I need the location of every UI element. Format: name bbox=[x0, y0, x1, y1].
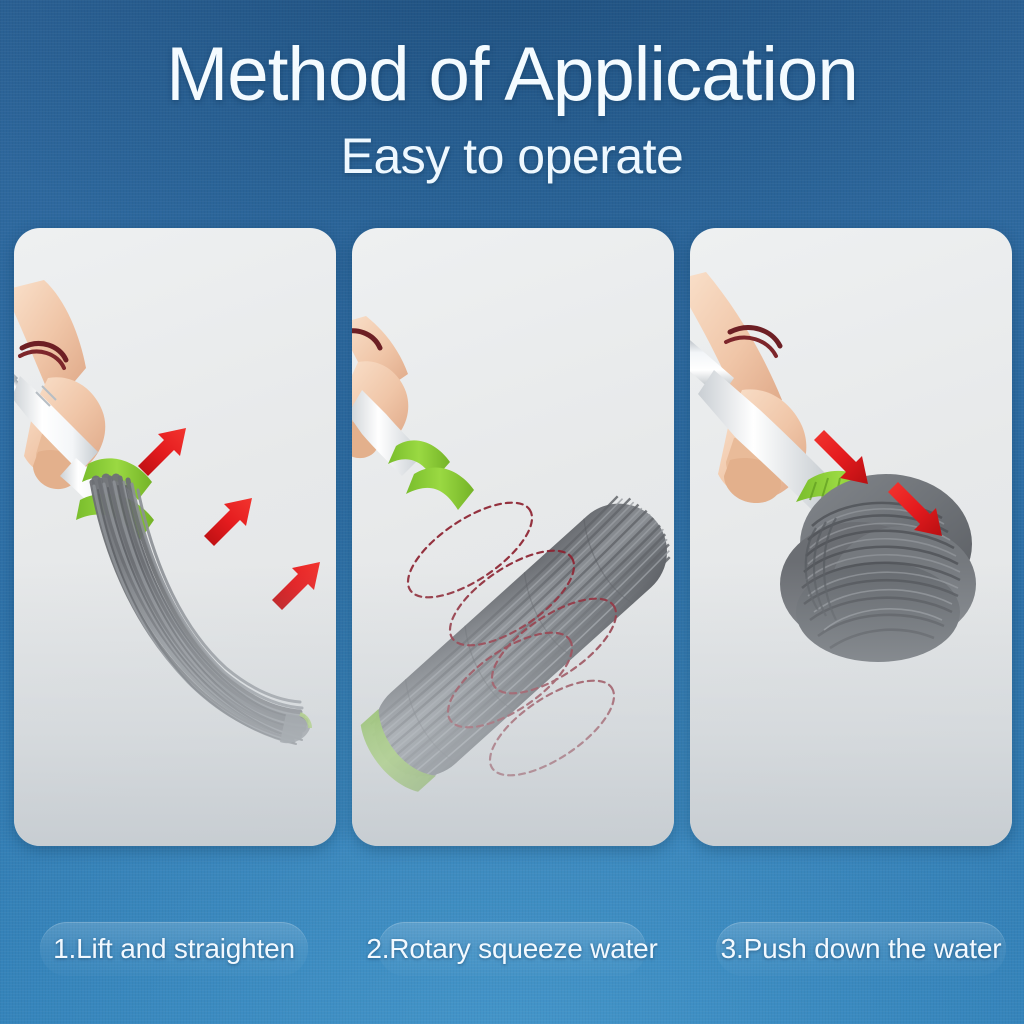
step-caption-2: 2.Rotary squeeze water bbox=[378, 922, 646, 976]
infographic-canvas: Method of Application Easy to operate bbox=[0, 0, 1024, 1024]
arrow-up-left-icon-2 bbox=[204, 498, 252, 546]
page-subtitle: Easy to operate bbox=[0, 128, 1024, 184]
floor-shadow bbox=[690, 562, 1012, 846]
step-caption-1: 1.Lift and straighten bbox=[40, 922, 308, 976]
step-2-photo bbox=[352, 228, 674, 846]
floor-shadow bbox=[14, 562, 336, 846]
step-panel-1 bbox=[14, 228, 336, 846]
step-panel-2 bbox=[352, 228, 674, 846]
arrow-up-left-icon-1 bbox=[138, 428, 186, 476]
step-1-photo bbox=[14, 228, 336, 846]
floor-shadow bbox=[352, 562, 674, 846]
step-3-photo bbox=[690, 228, 1012, 846]
step-caption-3: 3.Push down the water bbox=[716, 922, 1006, 976]
step-panel-3 bbox=[690, 228, 1012, 846]
page-title: Method of Application bbox=[10, 34, 1014, 116]
